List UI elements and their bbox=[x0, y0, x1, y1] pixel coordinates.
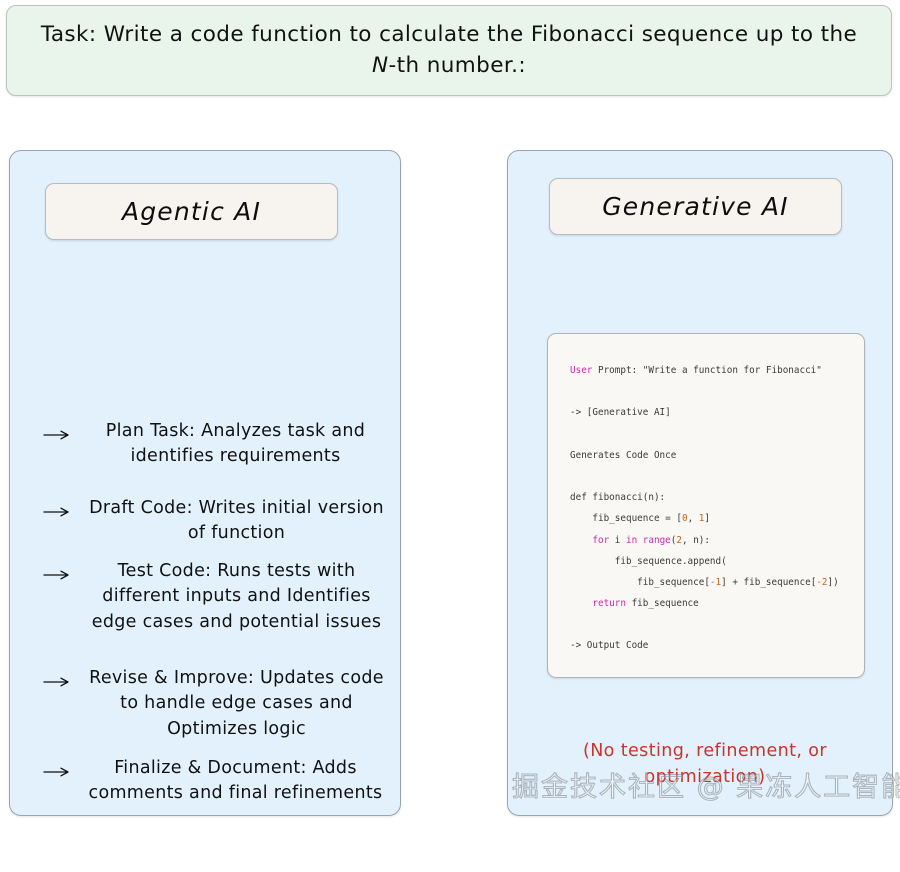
arrow-right-icon bbox=[43, 503, 73, 522]
step-revise-improve: Revise & Improve: Updates code to handle… bbox=[43, 666, 395, 742]
generative-ai-title: Generative AI bbox=[602, 192, 789, 221]
agentic-ai-title: Agentic AI bbox=[122, 197, 261, 226]
task-banner: Task: Write a code function to calculate… bbox=[6, 5, 892, 96]
task-banner-prefix: Task: Write a code function to calculate… bbox=[41, 22, 857, 47]
arrow-right-icon bbox=[43, 763, 73, 782]
step-test-code: Test Code: Runs tests with different inp… bbox=[43, 559, 395, 635]
step-revise-improve-label: Revise & Improve: Updates code to handle… bbox=[78, 666, 395, 742]
arrow-right-icon bbox=[43, 566, 73, 585]
step-plan-task-label: Plan Task: Analyzes task and identifies … bbox=[78, 419, 393, 470]
code-block-content: User Prompt: "Write a function for Fibon… bbox=[570, 360, 864, 678]
agentic-ai-title-box: Agentic AI bbox=[45, 183, 338, 240]
task-banner-suffix: -th number.: bbox=[389, 53, 526, 78]
step-test-code-label: Test Code: Runs tests with different inp… bbox=[78, 559, 395, 635]
step-finalize-document-label: Finalize & Document: Adds comments and f… bbox=[78, 756, 393, 807]
step-draft-code: Draft Code: Writes initial version of fu… bbox=[43, 496, 395, 547]
task-banner-text: Task: Write a code function to calculate… bbox=[33, 20, 865, 81]
generative-ai-code-block: User Prompt: "Write a function for Fibon… bbox=[547, 333, 865, 678]
task-banner-variable: N bbox=[372, 53, 388, 78]
step-finalize-document: Finalize & Document: Adds comments and f… bbox=[43, 756, 393, 807]
generative-ai-red-note: (No testing, refinement, or optimization… bbox=[560, 738, 850, 791]
step-plan-task: Plan Task: Analyzes task and identifies … bbox=[43, 419, 393, 470]
panel-agentic-ai: Agentic AI Plan Task: Analyzes task and … bbox=[9, 150, 401, 816]
arrow-right-icon bbox=[43, 426, 73, 445]
step-draft-code-label: Draft Code: Writes initial version of fu… bbox=[78, 496, 395, 547]
arrow-right-icon bbox=[43, 673, 73, 692]
generative-ai-title-box: Generative AI bbox=[549, 178, 842, 235]
